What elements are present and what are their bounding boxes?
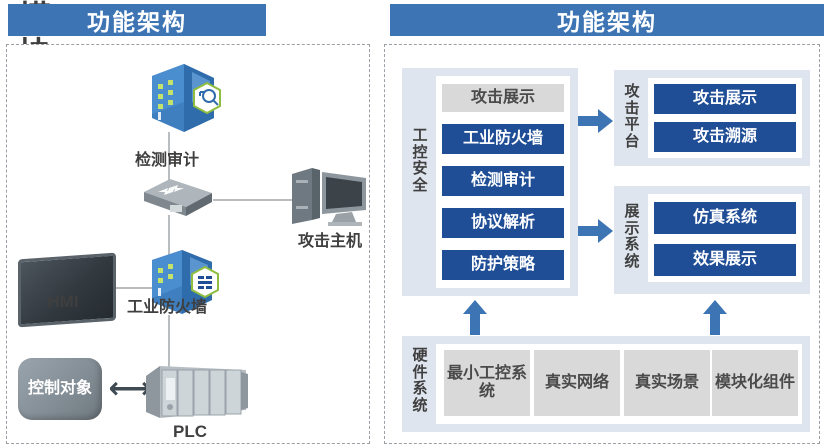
label-attack-host: 攻击主机 (275, 227, 385, 251)
control-object-device: 控制对象 (18, 358, 102, 420)
label-hmi: HMI (28, 292, 98, 312)
attack-platform-title: 攻击平台 (622, 84, 642, 150)
ics-security-title: 工控安全 (410, 128, 430, 194)
chip-display-1[interactable]: 效果展示 (654, 244, 796, 276)
arrow-right-display-system-icon (578, 218, 614, 244)
chip-ics-1[interactable]: 工业防火墙 (442, 124, 564, 154)
chip-hw-3[interactable]: 模块化组件 (712, 350, 798, 416)
desktop-computer-icon (288, 164, 372, 230)
label-control-object: 控制对象 (28, 380, 92, 398)
right-header-title: 功能架构 (557, 3, 657, 37)
label-industrial-firewall: 工业防火墙 (108, 293, 226, 317)
chip-ics-0[interactable]: 攻击展示 (442, 84, 564, 112)
plc-icon (140, 358, 252, 426)
chip-attack-0[interactable]: 攻击展示 (654, 84, 796, 114)
left-panel: 功能架构 模 块 化 检测审计 (0, 0, 382, 448)
server-icon (140, 62, 226, 138)
attack-host-device (288, 164, 372, 235)
label-plc: PLC (155, 422, 225, 442)
chip-ics-4[interactable]: 防护策略 (442, 250, 564, 280)
hmi-device (18, 253, 116, 328)
left-panel-header: 功能架构 (8, 4, 266, 36)
plc-device (140, 358, 252, 431)
detection-audit-device (140, 62, 226, 143)
switch-icon (140, 176, 216, 222)
label-detection-audit: 检测审计 (112, 146, 222, 170)
chip-ics-2[interactable]: 检测审计 (442, 166, 564, 196)
chip-attack-1[interactable]: 攻击溯源 (654, 122, 796, 152)
network-switch-device (140, 176, 216, 227)
chip-display-0[interactable]: 仿真系统 (654, 202, 796, 234)
arrow-up-to-ics-icon (462, 300, 488, 336)
chip-hw-2[interactable]: 真实场景 (624, 350, 710, 416)
chip-ics-3[interactable]: 协议解析 (442, 208, 564, 238)
right-panel: 功能架构 工控安全 攻击展示 工业防火墙 检测审计 协议解析 防护策略 攻击平台… (382, 0, 830, 448)
chip-hw-1[interactable]: 真实网络 (534, 350, 620, 416)
chip-hw-0[interactable]: 最小工控系统 (444, 350, 530, 416)
display-system-title: 展示系统 (622, 204, 642, 270)
hardware-system-title: 硬件系统 (410, 348, 430, 414)
arrow-right-attack-platform-icon (578, 108, 614, 134)
arrow-up-to-display-icon (702, 300, 728, 336)
right-panel-header: 功能架构 (390, 4, 824, 36)
left-header-title: 功能架构 (87, 3, 187, 37)
